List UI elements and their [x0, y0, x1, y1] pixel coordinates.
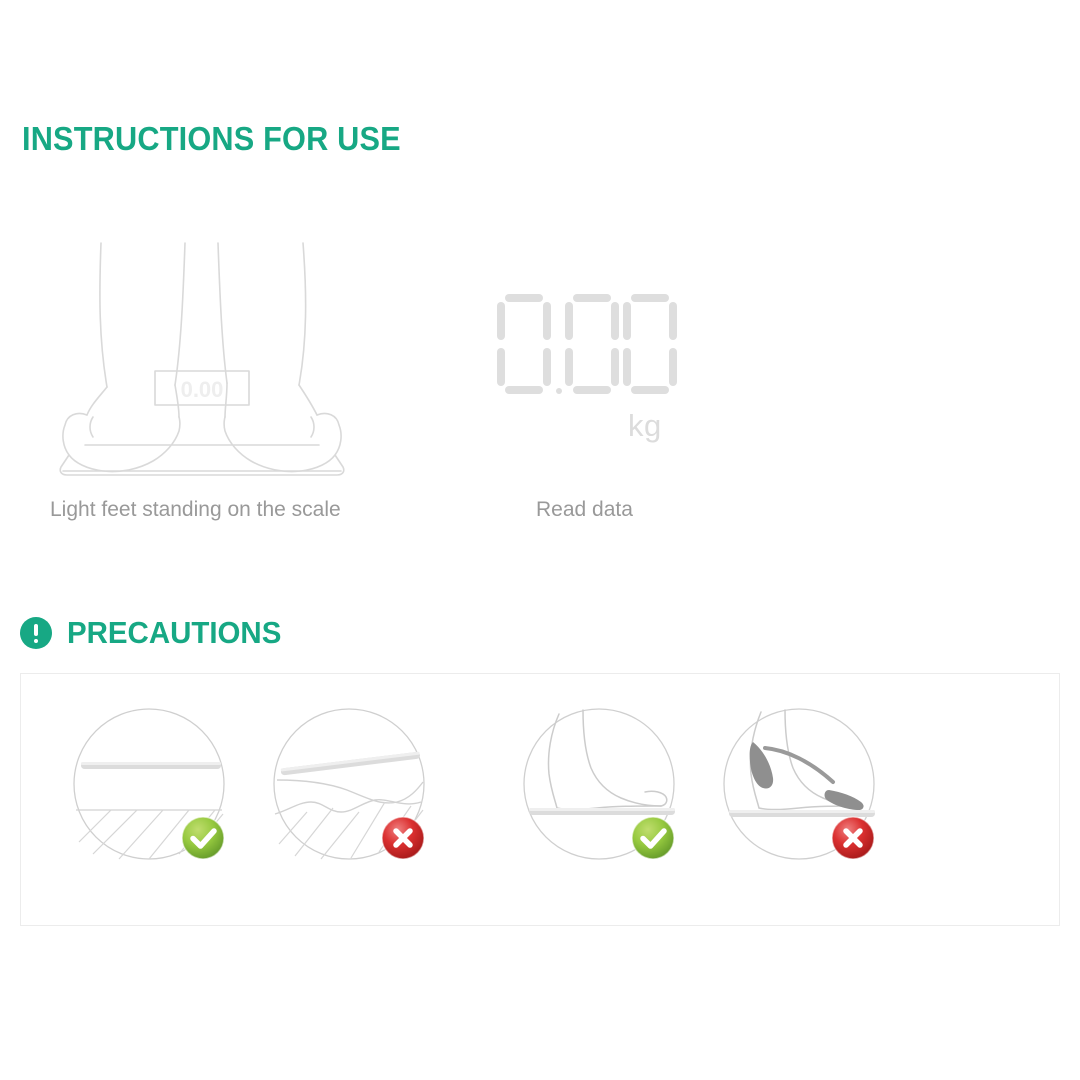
green-check-badge [632, 817, 674, 859]
caption-light-feet: Light feet standing on the scale [50, 498, 341, 522]
exclamation-circle-icon [20, 617, 52, 649]
svg-text:0.00: 0.00 [181, 377, 224, 402]
precaution-item-bare-foot [521, 702, 691, 872]
precaution-item-hard-flat-floor [71, 702, 241, 872]
legs-feet-on-scale-icon: 0.00 [55, 235, 385, 485]
scale-on-hard-flat-floor-icon [71, 702, 241, 872]
precautions-title: PRECAUTIONS [67, 615, 281, 651]
precaution-item-foot-with-shoe [721, 702, 891, 872]
unit-label-kg: kg [628, 408, 662, 444]
foot-with-shoe-on-scale-icon [721, 702, 891, 872]
bare-foot-on-scale-icon [521, 702, 691, 872]
red-cross-badge [382, 817, 424, 859]
precaution-item-carpet-uneven-floor [271, 702, 441, 872]
page-title: INSTRUCTIONS FOR USE [22, 120, 401, 158]
scale-display-value: 0.00 [181, 377, 224, 402]
red-cross-badge [832, 817, 874, 859]
precautions-panel [20, 673, 1060, 926]
seven-segment-display-icon [497, 292, 677, 407]
scale-on-carpet-uneven-floor-icon [271, 702, 441, 872]
caption-read-data: Read data [536, 498, 633, 522]
green-check-badge [182, 817, 224, 859]
illustration-read-data [497, 292, 677, 407]
precautions-heading: PRECAUTIONS [20, 615, 293, 651]
illustration-light-feet-on-scale: 0.00 [55, 235, 385, 485]
